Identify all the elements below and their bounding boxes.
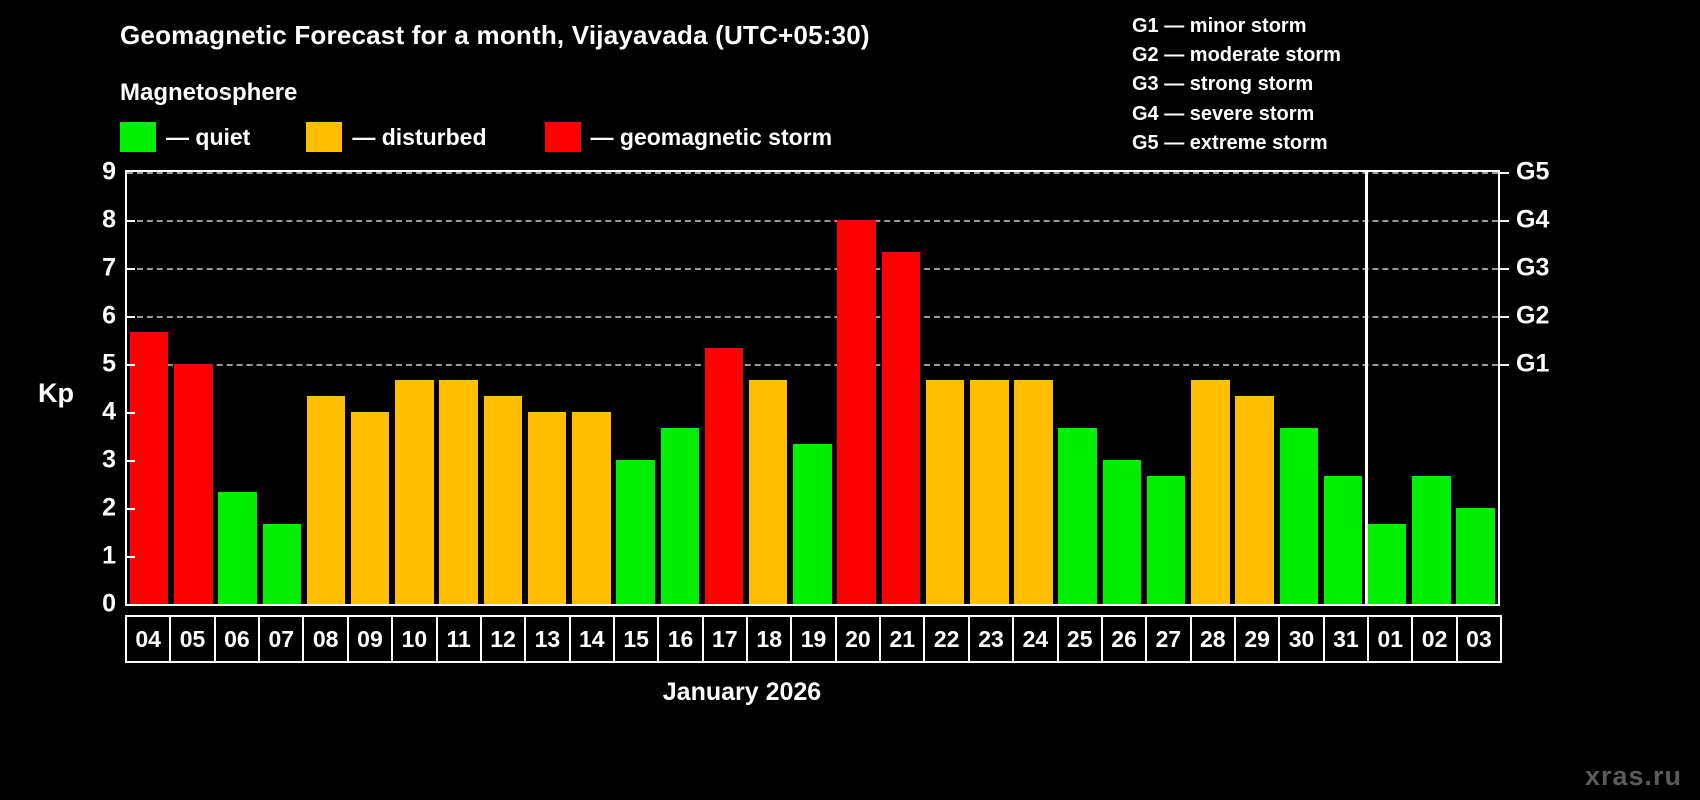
y-tick-mark-4 xyxy=(126,412,135,414)
bar-21[interactable] xyxy=(882,252,920,604)
g-tick-label-G3: G3 xyxy=(1516,254,1549,283)
bar-cell[interactable] xyxy=(1100,172,1144,604)
date-label-29[interactable]: 29 xyxy=(1234,615,1280,663)
legend-label-disturbed: — disturbed xyxy=(352,124,486,151)
y-axis-title: Kp xyxy=(38,378,74,409)
bar-14[interactable] xyxy=(572,412,610,604)
bar-07[interactable] xyxy=(263,524,301,604)
y-tick-mark-6 xyxy=(126,316,135,318)
date-label-16[interactable]: 16 xyxy=(657,615,703,663)
bar-cell[interactable] xyxy=(437,172,481,604)
bar-cell[interactable] xyxy=(1011,172,1055,604)
bar-19[interactable] xyxy=(793,444,831,604)
bar-28[interactable] xyxy=(1191,380,1229,604)
date-label-03[interactable]: 03 xyxy=(1456,615,1502,663)
bar-26[interactable] xyxy=(1103,460,1141,604)
date-label-10[interactable]: 10 xyxy=(391,615,437,663)
date-label-06[interactable]: 06 xyxy=(214,615,260,663)
bar-cell[interactable] xyxy=(215,172,259,604)
bar-06[interactable] xyxy=(218,492,256,604)
bar-02[interactable] xyxy=(1412,476,1450,604)
date-label-08[interactable]: 08 xyxy=(302,615,348,663)
date-label-13[interactable]: 13 xyxy=(524,615,570,663)
bar-cell[interactable] xyxy=(1365,172,1409,604)
legend-item-quiet: — quiet xyxy=(120,122,250,152)
bar-cell[interactable] xyxy=(171,172,215,604)
storm-scale-g5: G5 — extreme storm xyxy=(1132,129,1341,158)
bar-27[interactable] xyxy=(1147,476,1185,604)
g-tick-mark-G3 xyxy=(1500,268,1509,270)
bar-20[interactable] xyxy=(837,220,875,604)
bar-cell[interactable] xyxy=(658,172,702,604)
legend-swatch-disturbed xyxy=(306,122,342,152)
legend-label-storm: — geomagnetic storm xyxy=(591,124,833,151)
legend-swatch-storm xyxy=(545,122,581,152)
date-label-28[interactable]: 28 xyxy=(1190,615,1236,663)
bar-cell[interactable] xyxy=(1277,172,1321,604)
date-label-18[interactable]: 18 xyxy=(746,615,792,663)
plot-area xyxy=(127,172,1498,604)
date-label-15[interactable]: 15 xyxy=(613,615,659,663)
date-label-25[interactable]: 25 xyxy=(1057,615,1103,663)
y-tick-label-6: 6 xyxy=(76,302,116,331)
bar-cell[interactable] xyxy=(835,172,879,604)
bar-10[interactable] xyxy=(395,380,433,604)
bar-15[interactable] xyxy=(616,460,654,604)
date-label-22[interactable]: 22 xyxy=(923,615,969,663)
y-tick-mark-5 xyxy=(126,364,135,366)
bar-cell[interactable] xyxy=(1409,172,1453,604)
magnetosphere-heading: Magnetosphere xyxy=(120,79,297,107)
date-label-11[interactable]: 11 xyxy=(436,615,482,663)
bar-cell[interactable] xyxy=(702,172,746,604)
bar-cell[interactable] xyxy=(1321,172,1365,604)
bar-cell[interactable] xyxy=(260,172,304,604)
bar-cell[interactable] xyxy=(525,172,569,604)
date-label-07[interactable]: 07 xyxy=(258,615,304,663)
bar-18[interactable] xyxy=(749,380,787,604)
legend-label-quiet: — quiet xyxy=(166,124,250,151)
bar-17[interactable] xyxy=(705,348,743,604)
g-tick-label-G5: G5 xyxy=(1516,158,1549,187)
bar-30[interactable] xyxy=(1280,428,1318,604)
g-tick-label-G2: G2 xyxy=(1516,302,1549,331)
bar-cell[interactable] xyxy=(1144,172,1188,604)
y-tick-mark-2 xyxy=(126,508,135,510)
legend-item-storm: — geomagnetic storm xyxy=(545,122,833,152)
date-label-31[interactable]: 31 xyxy=(1323,615,1369,663)
storm-scale-g1: G1 — minor storm xyxy=(1132,12,1341,41)
bar-12[interactable] xyxy=(484,396,522,604)
bar-cell[interactable] xyxy=(569,172,613,604)
legend-swatch-quiet xyxy=(120,122,156,152)
g-tick-label-G4: G4 xyxy=(1516,206,1549,235)
date-label-02[interactable]: 02 xyxy=(1411,615,1457,663)
bar-cell[interactable] xyxy=(790,172,834,604)
y-tick-mark-7 xyxy=(126,268,135,270)
bar-cell[interactable] xyxy=(1056,172,1100,604)
g-tick-mark-G2 xyxy=(1500,316,1509,318)
bar-cell[interactable] xyxy=(746,172,790,604)
y-tick-label-3: 3 xyxy=(76,446,116,475)
y-tick-label-5: 5 xyxy=(76,350,116,379)
date-label-01[interactable]: 01 xyxy=(1367,615,1413,663)
y-tick-label-8: 8 xyxy=(76,206,116,235)
g-tick-mark-G4 xyxy=(1500,220,1509,222)
date-label-19[interactable]: 19 xyxy=(790,615,836,663)
g-tick-mark-G1 xyxy=(1500,364,1509,366)
bar-24[interactable] xyxy=(1014,380,1052,604)
date-label-23[interactable]: 23 xyxy=(968,615,1014,663)
bar-cell[interactable] xyxy=(1454,172,1498,604)
bar-cell[interactable] xyxy=(967,172,1011,604)
bar-22[interactable] xyxy=(926,380,964,604)
y-tick-label-7: 7 xyxy=(76,254,116,283)
y-tick-label-2: 2 xyxy=(76,494,116,523)
bar-cell[interactable] xyxy=(127,172,171,604)
bar-08[interactable] xyxy=(307,396,345,604)
storm-scale-g3: G3 — strong storm xyxy=(1132,70,1341,99)
date-label-24[interactable]: 24 xyxy=(1012,615,1058,663)
date-label-21[interactable]: 21 xyxy=(879,615,925,663)
y-tick-label-1: 1 xyxy=(76,542,116,571)
storm-scale-g4: G4 — severe storm xyxy=(1132,100,1341,129)
y-tick-label-4: 4 xyxy=(76,398,116,427)
bar-cell[interactable] xyxy=(348,172,392,604)
g-tick-mark-G5 xyxy=(1500,172,1509,174)
bar-04[interactable] xyxy=(130,332,168,604)
bar-cell[interactable] xyxy=(392,172,436,604)
x-axis-title: January 2026 xyxy=(0,678,1700,707)
bar-cell[interactable] xyxy=(1232,172,1276,604)
date-label-20[interactable]: 20 xyxy=(835,615,881,663)
bar-series xyxy=(127,172,1498,604)
page-title: Geomagnetic Forecast for a month, Vijaya… xyxy=(120,20,870,51)
date-label-12[interactable]: 12 xyxy=(480,615,526,663)
y-tick-mark-1 xyxy=(126,556,135,558)
y-tick-label-9: 9 xyxy=(76,158,116,187)
watermark: xras.ru xyxy=(1585,761,1682,792)
bar-cell[interactable] xyxy=(879,172,923,604)
bar-23[interactable] xyxy=(970,380,1008,604)
y-tick-label-0: 0 xyxy=(76,590,116,619)
date-label-30[interactable]: 30 xyxy=(1278,615,1324,663)
bar-31[interactable] xyxy=(1324,476,1362,604)
legend-item-disturbed: — disturbed xyxy=(306,122,486,152)
bar-cell[interactable] xyxy=(613,172,657,604)
y-tick-mark-8 xyxy=(126,220,135,222)
magnetosphere-legend: — quiet — disturbed — geomagnetic storm xyxy=(120,122,832,152)
bar-11[interactable] xyxy=(439,380,477,604)
storm-scale-g2: G2 — moderate storm xyxy=(1132,41,1341,70)
bar-25[interactable] xyxy=(1058,428,1096,604)
date-label-05[interactable]: 05 xyxy=(169,615,215,663)
y-tick-mark-3 xyxy=(126,460,135,462)
g-tick-label-G1: G1 xyxy=(1516,350,1549,379)
date-label-17[interactable]: 17 xyxy=(702,615,748,663)
bar-01[interactable] xyxy=(1368,524,1406,604)
date-label-04[interactable]: 04 xyxy=(125,615,171,663)
x-axis-title-text: January 2026 xyxy=(663,678,821,706)
bar-05[interactable] xyxy=(174,364,212,604)
bar-cell[interactable] xyxy=(481,172,525,604)
bar-cell[interactable] xyxy=(923,172,967,604)
bar-cell[interactable] xyxy=(304,172,348,604)
date-label-09[interactable]: 09 xyxy=(347,615,393,663)
bar-16[interactable] xyxy=(661,428,699,604)
bar-09[interactable] xyxy=(351,412,389,604)
storm-scale-legend: G1 — minor storm G2 — moderate storm G3 … xyxy=(1132,12,1341,158)
month-divider xyxy=(1365,172,1368,604)
bar-03[interactable] xyxy=(1456,508,1494,604)
bar-13[interactable] xyxy=(528,412,566,604)
x-axis-date-labels: 0405060708091011121314151617181920212223… xyxy=(125,615,1500,663)
date-label-26[interactable]: 26 xyxy=(1101,615,1147,663)
date-label-27[interactable]: 27 xyxy=(1145,615,1191,663)
bar-cell[interactable] xyxy=(1188,172,1232,604)
bar-29[interactable] xyxy=(1235,396,1273,604)
date-label-14[interactable]: 14 xyxy=(569,615,615,663)
